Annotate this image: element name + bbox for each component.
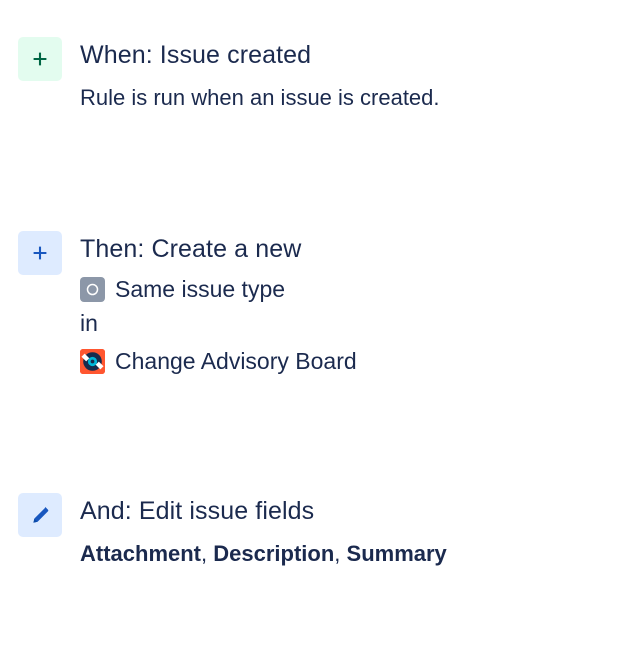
plus-icon <box>30 243 50 263</box>
when-title: When: Issue created <box>80 39 440 71</box>
trigger-icon-tile <box>18 37 62 81</box>
rule-block-and[interactable]: And: Edit issue fields Attachment, Descr… <box>18 493 447 569</box>
and-title: And: Edit issue fields <box>80 495 447 527</box>
pencil-icon <box>29 504 51 526</box>
rule-block-when[interactable]: When: Issue created Rule is run when an … <box>18 37 440 113</box>
action-icon-tile <box>18 231 62 275</box>
field-name-attachment: Attachment <box>80 541 201 566</box>
issue-type-label: Same issue type <box>115 275 285 303</box>
plus-icon <box>30 49 50 69</box>
and-block-body: And: Edit issue fields Attachment, Descr… <box>80 493 447 569</box>
field-name-summary: Summary <box>347 541 447 566</box>
project-label: Change Advisory Board <box>115 347 357 375</box>
then-connector: in <box>80 309 357 337</box>
field-separator-1: , <box>201 541 213 566</box>
and-fields-list: Attachment, Description, Summary <box>80 539 447 569</box>
then-title: Then: Create a new <box>80 233 357 265</box>
same-issue-type-icon <box>80 277 105 302</box>
when-block-body: When: Issue created Rule is run when an … <box>80 37 440 113</box>
field-name-description: Description <box>213 541 334 566</box>
automation-rule-summary: When: Issue created Rule is run when an … <box>0 0 622 670</box>
issue-type-token[interactable]: Same issue type <box>80 275 357 303</box>
field-separator-2: , <box>334 541 346 566</box>
project-token[interactable]: Change Advisory Board <box>80 347 357 375</box>
rule-block-then[interactable]: Then: Create a new Same issue type in <box>18 231 357 375</box>
when-description: Rule is run when an issue is created. <box>80 83 440 113</box>
project-avatar-icon <box>80 349 105 374</box>
edit-icon-tile <box>18 493 62 537</box>
then-block-body: Then: Create a new Same issue type in <box>80 231 357 375</box>
